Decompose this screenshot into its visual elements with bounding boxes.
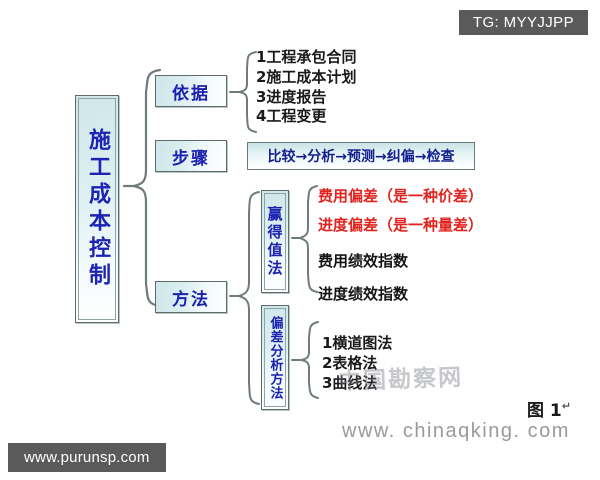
diagram-canvas: 施工成本控制 依据 步骤 方法 赢得值法 偏差分析方法 1工程承包合同 2施工成… <box>0 0 600 480</box>
earned-value-line-cost-performance-index: 费用绩效指数 <box>318 250 408 271</box>
branch-node-steps[interactable]: 步骤 <box>155 140 227 172</box>
basis-item-list: 1工程承包合同 2施工成本计划 3进度报告 4工程变更 <box>256 48 356 127</box>
branch-node-methods[interactable]: 方法 <box>155 281 227 313</box>
earned-value-line-cost-variance: 费用偏差（是一种价差） <box>318 185 483 206</box>
earned-value-line-schedule-performance-index: 进度绩效指数 <box>318 283 408 304</box>
earned-value-line-schedule-variance: 进度偏差（是一种量差） <box>318 214 483 235</box>
paragraph-mark-icon: ↵ <box>562 399 571 412</box>
site-url-badge: www.purunsp.com <box>8 443 166 472</box>
tg-badge: TG: MYYJJPP <box>459 10 588 35</box>
brace-variance-items <box>290 318 322 402</box>
brace-earned-value-items <box>290 182 320 296</box>
figure-caption-text: 图 1 <box>527 401 562 421</box>
steps-flow-box[interactable]: 比较→分析→预测→纠偏→检查 <box>247 142 475 170</box>
branch-node-basis[interactable]: 依据 <box>155 75 227 107</box>
center-watermark: 中国勘察网 <box>337 358 463 396</box>
method-node-earned-value[interactable]: 赢得值法 <box>261 190 289 293</box>
chinaqking-watermark: www. chinaqking. com <box>342 420 570 443</box>
root-node-construction-cost-control[interactable]: 施工成本控制 <box>75 95 119 323</box>
method-node-variance-analysis[interactable]: 偏差分析方法 <box>261 305 289 410</box>
figure-caption: 图 1↵ <box>527 396 571 421</box>
brace-methods-split <box>228 186 262 412</box>
